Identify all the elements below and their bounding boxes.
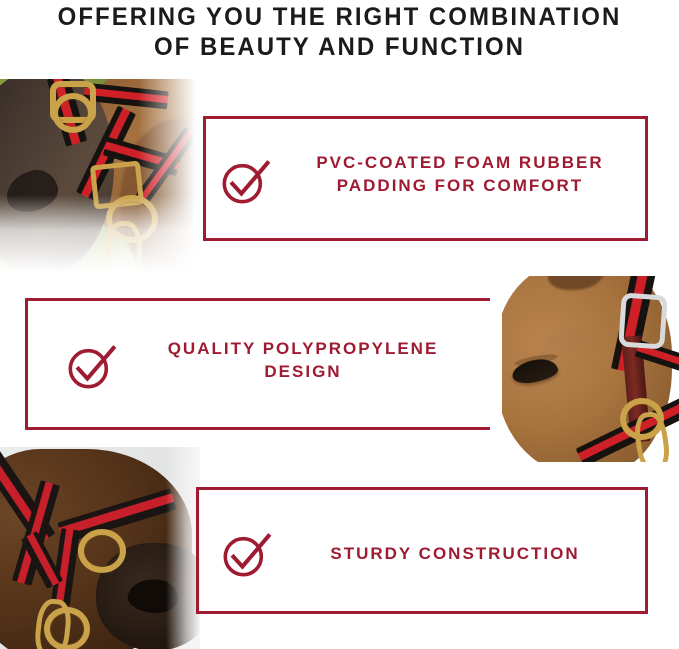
page-title: OFFERING YOU THE RIGHT COMBINATION OF BE… [14,2,666,62]
feature-box-construction: STURDY CONSTRUCTION [196,487,648,614]
photo-bottom-fade [0,195,196,273]
halter-round-ring-upper [52,93,94,133]
horse-muzzle-halter-photo [0,79,196,273]
feature-label-2: QUALITY POLYPROPYLENE DESIGN [138,337,468,383]
feature-label-3: STURDY CONSTRUCTION [285,542,625,565]
halter-silver-buckle [618,292,668,349]
photo-top-edge [490,272,679,276]
photo-right-fade [166,447,200,649]
feature-box-padding: PVC-COATED FOAM RUBBER PADDING FOR COMFO… [203,116,648,241]
check-circle-icon [64,339,118,393]
check-circle-icon [218,154,272,208]
halter-center-ring [78,529,126,573]
promo-graphic: OFFERING YOU THE RIGHT COMBINATION OF BE… [0,0,679,649]
feature-label-1: PVC-COATED FOAM RUBBER PADDING FOR COMFO… [284,151,636,197]
horse-head-halter-photo [490,272,679,462]
photo-left-edge [490,272,502,462]
check-circle-icon [219,527,273,581]
bay-horse-muzzle-halter-photo [0,447,200,649]
feature-box-design: QUALITY POLYPROPYLENE DESIGN [25,298,503,430]
